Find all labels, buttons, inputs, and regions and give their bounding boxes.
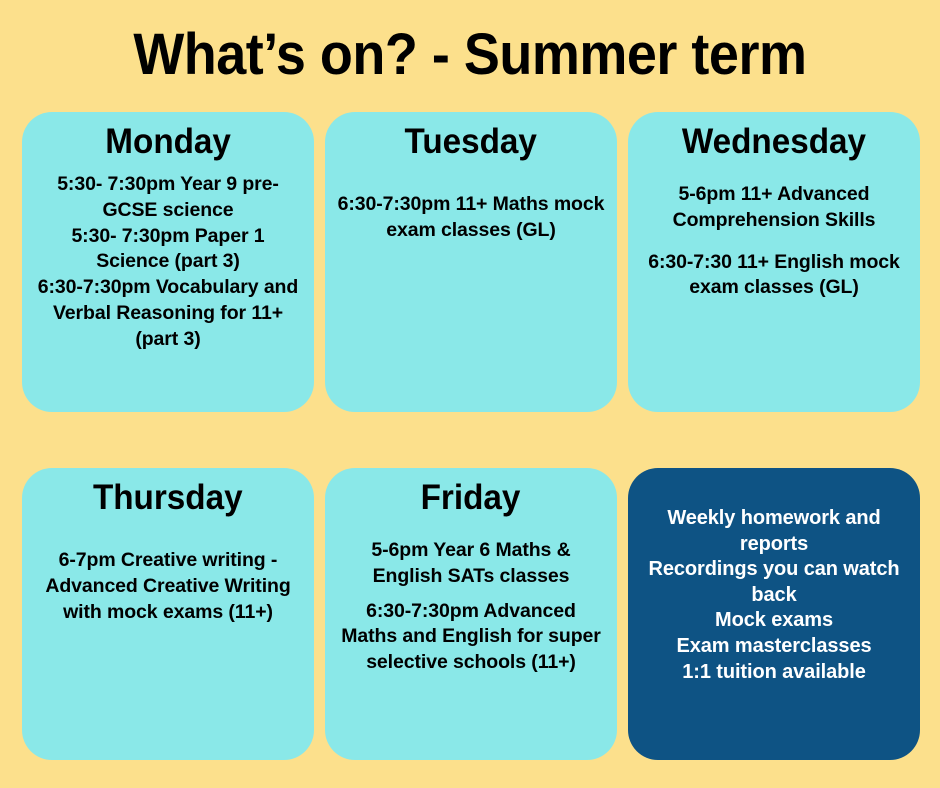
class-entry: 6:30-7:30pm 11+ Maths mock exam classes …	[337, 192, 605, 243]
class-entry: 5-6pm Year 6 Maths & English SATs classe…	[337, 538, 605, 589]
class-entry: 6:30-7:30pm Advanced Maths and English f…	[337, 599, 605, 676]
info-card: Weekly homework and reports Recordings y…	[628, 468, 920, 760]
info-line: Mock exams	[640, 608, 908, 634]
day-card-wednesday: Wednesday 5-6pm 11+ Advanced Comprehensi…	[628, 112, 920, 412]
class-entry: 6-7pm Creative writing - Advanced Creati…	[34, 548, 302, 625]
info-line: 1:1 tuition available	[640, 660, 908, 686]
day-entries-tuesday: 6:30-7:30pm 11+ Maths mock exam classes …	[337, 192, 605, 243]
day-card-monday: Monday 5:30- 7:30pm Year 9 pre-GCSE scie…	[22, 112, 314, 412]
day-heading-tuesday: Tuesday	[405, 122, 537, 162]
info-line: Weekly homework and reports	[640, 506, 908, 557]
day-card-friday: Friday 5-6pm Year 6 Maths & English SATs…	[325, 468, 617, 760]
info-line: Exam masterclasses	[640, 634, 908, 660]
day-entries-wednesday: 5-6pm 11+ Advanced Comprehension Skills …	[640, 182, 908, 301]
info-line: Recordings you can watch back	[640, 557, 908, 608]
day-entries-friday: 5-6pm Year 6 Maths & English SATs classe…	[337, 538, 605, 676]
day-entries-thursday: 6-7pm Creative writing - Advanced Creati…	[34, 548, 302, 625]
day-heading-monday: Monday	[105, 122, 231, 162]
day-card-thursday: Thursday 6-7pm Creative writing - Advanc…	[22, 468, 314, 760]
day-card-tuesday: Tuesday 6:30-7:30pm 11+ Maths mock exam …	[325, 112, 617, 412]
day-heading-thursday: Thursday	[93, 478, 243, 518]
poster-canvas: What’s on? - Summer term Monday 5:30- 7:…	[0, 0, 940, 788]
class-entry: 6:30-7:30 11+ English mock exam classes …	[640, 250, 908, 301]
day-heading-friday: Friday	[421, 478, 521, 518]
class-entry: 5:30- 7:30pm Paper 1 Science (part 3)	[34, 224, 302, 275]
schedule-grid: Monday 5:30- 7:30pm Year 9 pre-GCSE scie…	[22, 112, 920, 760]
page-title: What’s on? - Summer term	[133, 26, 806, 84]
class-entry: 5-6pm 11+ Advanced Comprehension Skills	[640, 182, 908, 233]
day-entries-monday: 5:30- 7:30pm Year 9 pre-GCSE science 5:3…	[34, 172, 302, 352]
class-entry: 6:30-7:30pm Vocabulary and Verbal Reason…	[34, 275, 302, 352]
title-bar: What’s on? - Summer term	[0, 0, 940, 110]
class-entry: 5:30- 7:30pm Year 9 pre-GCSE science	[34, 172, 302, 223]
day-heading-wednesday: Wednesday	[682, 122, 866, 162]
